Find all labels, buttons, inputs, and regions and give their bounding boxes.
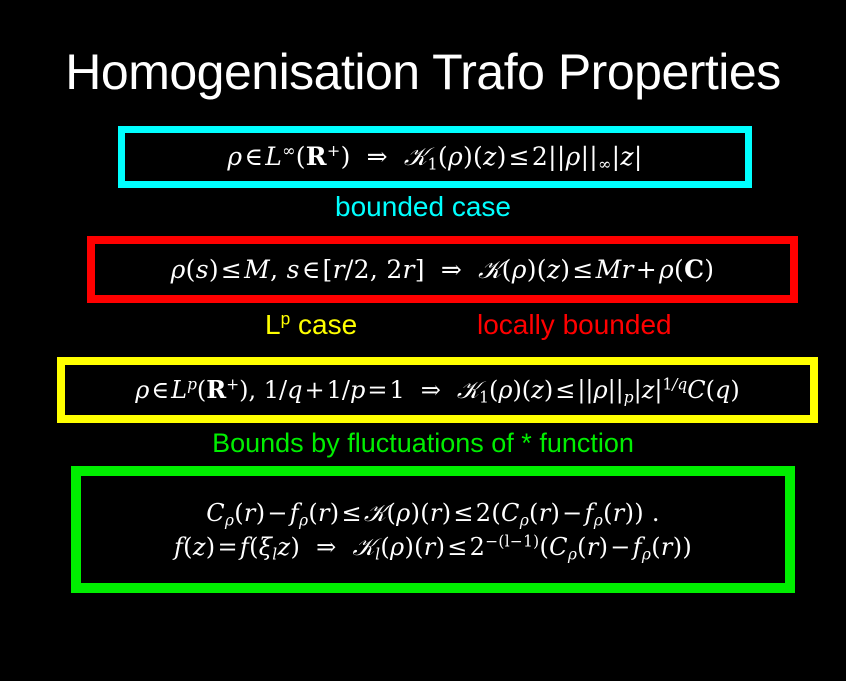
lp-case-label: L bbox=[265, 309, 281, 340]
lp-case-caption: Lp case bbox=[265, 309, 357, 341]
fluctuation-bounds-formula-line-1: Cρ(r)−fρ(r)≤𝒦(ρ)(r)≤2(Cρ(r)−fρ(r)) . bbox=[206, 498, 660, 528]
bounded-case-caption: bounded case bbox=[0, 191, 846, 223]
lp-case-formula-box: ρ∈Lp(R+), 1/q+1/p=1⇒𝒦1(ρ)(z)≤||ρ||p|z|1/… bbox=[57, 357, 818, 423]
formula-rho: ρ bbox=[227, 142, 242, 171]
bounded-case-formula: ρ∈L∞(R+)⇒𝒦1(ρ)(z)≤2||ρ||∞|z| bbox=[227, 141, 642, 172]
lp-case-formula: ρ∈Lp(R+), 1/q+1/p=1⇒𝒦1(ρ)(z)≤||ρ||p|z|1/… bbox=[135, 375, 740, 405]
fluctuation-bounds-formula-line-2: f(z)=f(ξlz)⇒𝒦l(ρ)(r)≤2−(l−1)(Cρ(r)−fρ(r)… bbox=[174, 532, 692, 562]
formula-L: L bbox=[265, 142, 282, 171]
slide-canvas: Homogenisation Trafo Properties ρ∈L∞(R+)… bbox=[0, 0, 846, 681]
locally-bounded-formula-box: ρ(s)≤M, s∈[r/2, 2r]⇒𝒦(ρ)(z)≤Mr+ρ(C) bbox=[87, 236, 798, 303]
page-title: Homogenisation Trafo Properties bbox=[0, 44, 846, 100]
locally-bounded-caption: locally bounded bbox=[477, 309, 672, 341]
fluctuation-caption: Bounds by fluctuations of * function bbox=[0, 427, 846, 459]
bounded-case-formula-box: ρ∈L∞(R+)⇒𝒦1(ρ)(z)≤2||ρ||∞|z| bbox=[118, 126, 752, 188]
locally-bounded-formula: ρ(s)≤M, s∈[r/2, 2r]⇒𝒦(ρ)(z)≤Mr+ρ(C) bbox=[171, 254, 715, 285]
fluctuation-bounds-formula-box: Cρ(r)−fρ(r)≤𝒦(ρ)(r)≤2(Cρ(r)−fρ(r)) . f(z… bbox=[71, 466, 795, 593]
lp-case-suffix: case bbox=[290, 309, 357, 340]
lp-case-exponent: p bbox=[281, 308, 291, 328]
